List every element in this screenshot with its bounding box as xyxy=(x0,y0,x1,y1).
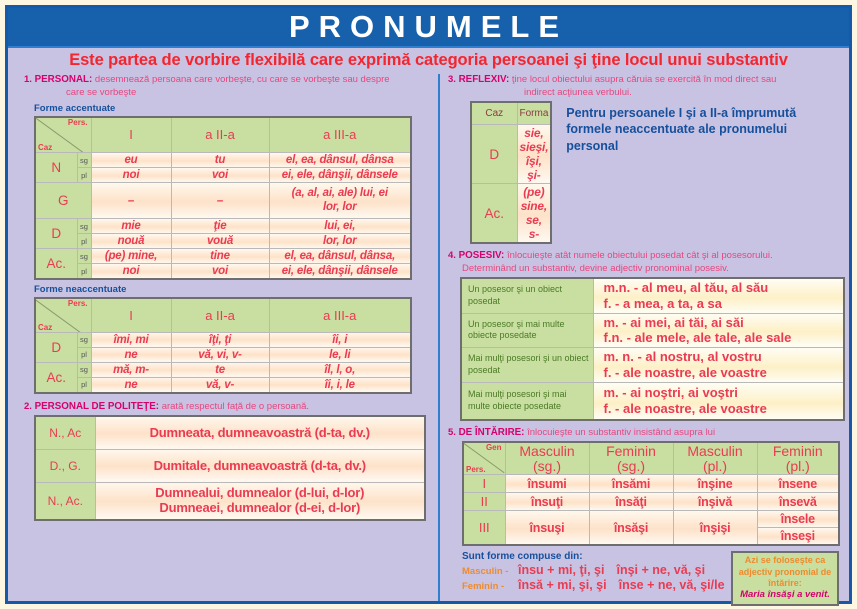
header-masculin-sg: Masculin (sg.) xyxy=(505,442,589,475)
azi-note-text: Azi se foloseşte ca adjectiv pronomial d… xyxy=(735,555,835,589)
table-forme-neaccentuate: Pers. Caz I a II-a a III-a D sg îmi, mi … xyxy=(34,297,412,394)
posesiv-key: Un posesor şi mai multe obiecte posedate xyxy=(461,313,593,348)
cell: ţie xyxy=(171,219,269,234)
cell: (pe) sine, se, s- xyxy=(517,184,551,244)
row-label-pers-2: II xyxy=(463,493,505,511)
section-intarire-desc: înlocuieşte un substantiv insistând asup… xyxy=(527,427,715,438)
cell: ne xyxy=(91,377,171,393)
table-intarire: Gen Pers. Masculin (sg.) Feminin (sg.) M… xyxy=(462,441,840,546)
cell: lui, ei, xyxy=(269,219,411,234)
cell: vouă xyxy=(171,234,269,249)
corner-label-caz: Caz xyxy=(38,143,52,152)
header-line-1: Masculin xyxy=(508,444,587,459)
compose-form-2: înse + ne, vă, şi/le xyxy=(619,578,725,592)
table-header-row: Pers. Caz I a II-a a III-a xyxy=(35,298,411,332)
table-row: pl noi voi ei, ele, dânşii, dânsele xyxy=(35,264,411,280)
section-intarire-heading: 5. DE ÎNTĂRIRE: înlocuieşte un substanti… xyxy=(448,427,839,440)
cell: ne xyxy=(91,347,171,362)
cell: mă, m- xyxy=(91,362,171,377)
posesiv-value: m. n. - al nostru, al vostru f. - ale no… xyxy=(593,348,844,383)
table-row: Mai mulţi posesori şi un obiect posedat … xyxy=(461,348,844,383)
compose-row-masculin: Masculin - însu + mi, ţi, şi înşi + ne, … xyxy=(462,563,731,577)
table-row: D sg mie ţie lui, ei, xyxy=(35,219,411,234)
cell: însăşi xyxy=(589,511,673,546)
posesiv-key: Un posesor şi un obiect posedat xyxy=(461,278,593,313)
table-header-row: Caz Forma xyxy=(471,102,551,125)
row-label-n-ac: N., Ac xyxy=(35,416,95,449)
table-posesiv: Un posesor şi un obiect posedat m.n. - a… xyxy=(460,277,845,421)
cell: însele xyxy=(757,511,839,528)
table-row: pl noi voi ei, ele, dânşii, dânsele xyxy=(35,168,411,183)
cell: înşivă xyxy=(673,493,757,511)
header-line-1: Feminin xyxy=(592,444,671,459)
table-row: N., Ac. Dumnealui, dumnealor (d-lui, d-l… xyxy=(35,482,425,520)
page-title: PRONUMELE xyxy=(289,9,568,45)
section-posesiv-desc: înlocuieşte atât numele obiectului posed… xyxy=(507,250,773,261)
posesiv-value: m. - ai noştri, ai voştri f. - ale noast… xyxy=(593,383,844,420)
cell: el, ea, dânsul, dânsa, xyxy=(269,249,411,264)
table-forme-accentuate: Pers. Caz I a II-a a III-a N sg eu tu el… xyxy=(34,116,412,281)
table-row: Un posesor şi mai multe obiecte posedate… xyxy=(461,313,844,348)
cell: Dumneata, dumneavoastră (d-ta, dv.) xyxy=(95,416,425,449)
table-row: pl ne vă, v- îi, i, le xyxy=(35,377,411,393)
row-label-ac: Ac. xyxy=(35,362,77,393)
cell: înseşi xyxy=(757,528,839,546)
row-label-pers-3: III xyxy=(463,511,505,546)
cell: însuţi xyxy=(505,493,589,511)
cell: însuşi xyxy=(505,511,589,546)
corner-header: Pers. Caz xyxy=(35,298,91,332)
number-pl: pl xyxy=(77,347,91,362)
table-row: N., Ac Dumneata, dumneavoastră (d-ta, dv… xyxy=(35,416,425,449)
posesiv-value: m.n. - al meu, al tău, al său f. - a mea… xyxy=(593,278,844,313)
header-line-1: Feminin xyxy=(760,444,837,459)
row-label-d: D xyxy=(35,332,77,362)
azi-note-example: Maria însăşi a venit. xyxy=(735,589,835,601)
section-politete-heading: 2. PERSONAL DE POLITEŢE: arată respectul… xyxy=(24,401,430,414)
poster-title-bar: PRONUMELE xyxy=(8,8,849,48)
table-row: Ac. sg (pe) mine, tine el, ea, dânsul, d… xyxy=(35,249,411,264)
header-person-2: a II-a xyxy=(171,298,269,332)
corner-label-pers: Pers. xyxy=(68,299,88,308)
number-sg: sg xyxy=(77,362,91,377)
section-personal-desc2: care se vorbeşte xyxy=(24,87,430,99)
number-pl: pl xyxy=(77,234,91,249)
cell: te xyxy=(171,362,269,377)
header-line-1: Masculin xyxy=(676,444,755,459)
cell: le, li xyxy=(269,347,411,362)
header-feminin-sg: Feminin (sg.) xyxy=(589,442,673,475)
section-posesiv-title: POSESIV: xyxy=(459,250,505,261)
number-pl: pl xyxy=(77,264,91,280)
reflexiv-note: Pentru persoanele I şi a II-a împrumută … xyxy=(566,105,839,155)
posesiv-value: m. - ai mei, ai tăi, ai săi f.n. - ale m… xyxy=(593,313,844,348)
corner-label-pers: Pers. xyxy=(68,118,88,127)
cell: însăţi xyxy=(589,493,673,511)
cell: ei, ele, dânşii, dânsele xyxy=(269,168,411,183)
compose-form-2: înşi + ne, vă, şi xyxy=(616,563,705,577)
posesiv-key: Mai mulţi posesori şi un obiect posedat xyxy=(461,348,593,383)
section-personal-desc: desemnează persoana care vorbeşte, cu ca… xyxy=(95,74,390,85)
cell: Dumitale, dumneavoastră (d-ta, dv.) xyxy=(95,449,425,482)
row-label-g: G xyxy=(35,183,91,219)
cell: (pe) mine, xyxy=(91,249,171,264)
header-line-2: (sg.) xyxy=(508,459,587,474)
poster: PRONUMELE Este partea de vorbire flexibi… xyxy=(0,0,857,609)
number-sg: sg xyxy=(77,219,91,234)
table-row: N sg eu tu el, ea, dânsul, dânsa xyxy=(35,153,411,168)
cell: îl, l, o, xyxy=(269,362,411,377)
section-reflexiv-desc: ţine locul obiectului asupra căruia se e… xyxy=(512,74,777,85)
cell: mie xyxy=(91,219,171,234)
cell: vă, vi, v- xyxy=(171,347,269,362)
header-person-1: I xyxy=(91,298,171,332)
cell: ei, ele, dânşii, dânsele xyxy=(269,264,411,280)
section-politete-number: 2. xyxy=(24,401,32,412)
section-reflexiv-number: 3. xyxy=(448,74,456,85)
header-feminin-pl: Feminin (pl.) xyxy=(757,442,839,475)
cell: el, ea, dânsul, dânsa xyxy=(269,153,411,168)
compose-form-1: însă + mi, şi, şi xyxy=(518,578,607,592)
table-row: D sie, sieşi, îşi, şi- xyxy=(471,125,551,184)
header-line-2: (pl.) xyxy=(676,459,755,474)
cell: îmi, mi xyxy=(91,332,171,347)
section-intarire-title: DE ÎNTĂRIRE: xyxy=(459,427,525,438)
corner-label-pers: Pers. xyxy=(466,465,486,474)
section-personal-number: 1. xyxy=(24,74,32,85)
table-row: I însumi însămi înşine însene xyxy=(463,475,839,493)
section-posesiv-number: 4. xyxy=(448,250,456,261)
header-masculin-pl: Masculin (pl.) xyxy=(673,442,757,475)
cell: eu xyxy=(91,153,171,168)
section-posesiv-heading: 4. POSESIV: înlocuieşte atât numele obie… xyxy=(448,250,839,275)
cell: voi xyxy=(171,168,269,183)
header-forma: Forma xyxy=(517,102,551,125)
cell: voi xyxy=(171,264,269,280)
section-posesiv-desc2: Determinând un substantiv, devine adject… xyxy=(448,263,839,275)
section-reflexiv-desc2: indirect acţiunea verbului. xyxy=(448,87,839,99)
cell: (a, al, ai, ale) lui, ei lor, lor xyxy=(269,183,411,219)
cell: însămi xyxy=(589,475,673,493)
compose-lines: Sunt forme compuse din: Masculin - însu … xyxy=(462,551,731,593)
row-label-n-ac-2: N., Ac. xyxy=(35,482,95,520)
number-sg: sg xyxy=(77,249,91,264)
header-person-3: a III-a xyxy=(269,298,411,332)
corner-label-gen: Gen xyxy=(486,443,502,452)
corner-header: Gen Pers. xyxy=(463,442,505,475)
azi-note-box: Azi se foloseşte ca adjectiv pronomial d… xyxy=(731,551,839,606)
corner-label-caz: Caz xyxy=(38,323,52,332)
header-line-2: (sg.) xyxy=(592,459,671,474)
cell: – xyxy=(91,183,171,219)
section-reflexiv-title: REFLEXIV: xyxy=(459,74,510,85)
section-personal-heading: 1. PERSONAL: desemnează persoana care vo… xyxy=(24,74,430,99)
compose-form-1: însu + mi, ţi, şi xyxy=(518,563,604,577)
row-label-pers-1: I xyxy=(463,475,505,493)
number-sg: sg xyxy=(77,332,91,347)
table-row: D., G. Dumitale, dumneavoastră (d-ta, dv… xyxy=(35,449,425,482)
row-label-d: D xyxy=(35,219,77,249)
right-column: 3. REFLEXIV: ţine locul obiectului asupr… xyxy=(438,74,849,601)
table-header-row: Pers. Caz I a II-a a III-a xyxy=(35,117,411,153)
cell: – xyxy=(171,183,269,219)
table-row: G – – (a, al, ai, ale) lui, ei lor, lor xyxy=(35,183,411,219)
cell: sie, sieşi, îşi, şi- xyxy=(517,125,551,184)
cell: îi, i xyxy=(269,332,411,347)
cell: tu xyxy=(171,153,269,168)
table-row: D sg îmi, mi îţi, ţi îi, i xyxy=(35,332,411,347)
row-label-d-g: D., G. xyxy=(35,449,95,482)
poster-content: 1. PERSONAL: desemnează persoana care vo… xyxy=(8,74,849,601)
compose-title: Sunt forme compuse din: xyxy=(462,551,731,562)
section-intarire-number: 5. xyxy=(448,427,456,438)
section-politete-desc: arată respectul faţă de o persoană. xyxy=(162,401,309,412)
table-reflexiv: Caz Forma D sie, sieşi, îşi, şi- Ac. (pe… xyxy=(470,101,552,245)
header-line-2: (pl.) xyxy=(760,459,837,474)
table-row: pl nouă vouă lor, lor xyxy=(35,234,411,249)
table-row: II însuţi însăţi înşivă însevă xyxy=(463,493,839,511)
cell: îţi, ţi xyxy=(171,332,269,347)
cell: însumi xyxy=(505,475,589,493)
cell: lor, lor xyxy=(269,234,411,249)
caption-forme-neaccentuate: Forme neaccentuate xyxy=(34,284,430,295)
number-pl: pl xyxy=(77,377,91,393)
table-row: Ac. (pe) sine, se, s- xyxy=(471,184,551,244)
header-person-3: a III-a xyxy=(269,117,411,153)
cell: nouă xyxy=(91,234,171,249)
cell: vă, v- xyxy=(171,377,269,393)
posesiv-key: Mai mulţi posesori şi mai multe obiecte … xyxy=(461,383,593,420)
row-label-ac: Ac. xyxy=(471,184,517,244)
cell: însevă xyxy=(757,493,839,511)
cell: înşine xyxy=(673,475,757,493)
left-column: 1. PERSONAL: desemnează persoana care vo… xyxy=(8,74,438,601)
number-pl: pl xyxy=(77,168,91,183)
compose-row-feminin: Feminin - însă + mi, şi, şi înse + ne, v… xyxy=(462,578,731,592)
table-row: III însuşi însăşi înşişi însele xyxy=(463,511,839,528)
compose-gender-label: Masculin - xyxy=(462,566,518,577)
cell: noi xyxy=(91,168,171,183)
table-politete: N., Ac Dumneata, dumneavoastră (d-ta, dv… xyxy=(34,415,426,521)
header-person-2: a II-a xyxy=(171,117,269,153)
header-caz: Caz xyxy=(471,102,517,125)
poster-subtitle: Este partea de vorbire flexibilă care ex… xyxy=(8,48,849,72)
row-label-ac: Ac. xyxy=(35,249,77,280)
section-reflexiv-heading: 3. REFLEXIV: ţine locul obiectului asupr… xyxy=(448,74,839,99)
compose-gender-label: Feminin - xyxy=(462,581,518,592)
cell: îi, i, le xyxy=(269,377,411,393)
section-politete-title: PERSONAL DE POLITEŢE: xyxy=(35,401,159,412)
table-row: pl ne vă, vi, v- le, li xyxy=(35,347,411,362)
cell: înşişi xyxy=(673,511,757,546)
table-header-row: Gen Pers. Masculin (sg.) Feminin (sg.) M… xyxy=(463,442,839,475)
cell: însene xyxy=(757,475,839,493)
table-row: Un posesor şi un obiect posedat m.n. - a… xyxy=(461,278,844,313)
table-row: Mai mulţi posesori şi mai multe obiecte … xyxy=(461,383,844,420)
cell: noi xyxy=(91,264,171,280)
corner-header: Pers. Caz xyxy=(35,117,91,153)
section-personal-title: PERSONAL: xyxy=(35,74,93,85)
cell: tine xyxy=(171,249,269,264)
header-person-1: I xyxy=(91,117,171,153)
compose-block: Sunt forme compuse din: Masculin - însu … xyxy=(462,551,839,606)
cell: Dumnealui, dumnealor (d-lui, d-lor) Dumn… xyxy=(95,482,425,520)
poster-frame: PRONUMELE Este partea de vorbire flexibi… xyxy=(5,5,852,604)
table-row: Ac. sg mă, m- te îl, l, o, xyxy=(35,362,411,377)
row-label-n: N xyxy=(35,153,77,183)
reflexiv-block: Caz Forma D sie, sieşi, îşi, şi- Ac. (pe… xyxy=(470,101,839,245)
row-label-d: D xyxy=(471,125,517,184)
caption-forme-accentuate: Forme accentuate xyxy=(34,103,430,114)
number-sg: sg xyxy=(77,153,91,168)
